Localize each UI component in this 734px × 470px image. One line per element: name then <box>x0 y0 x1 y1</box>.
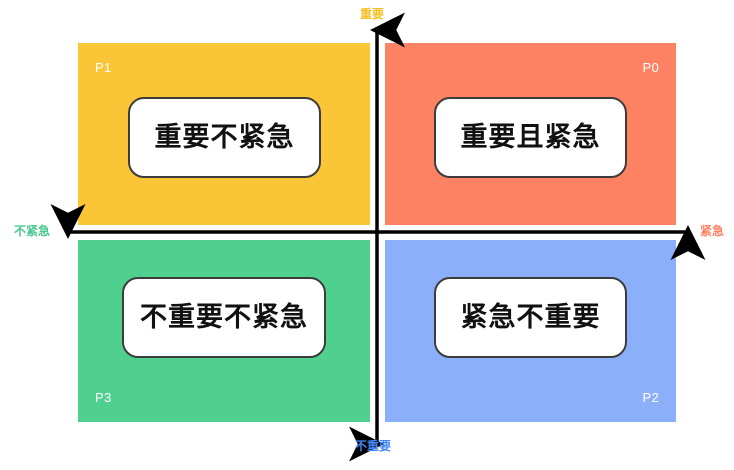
card-p3-label: 不重要不紧急 <box>140 304 308 331</box>
eisenhower-matrix-diagram: P1 P0 P3 P2 <box>0 0 734 470</box>
card-p3[interactable]: 不重要不紧急 <box>122 277 326 358</box>
quadrant-p3-code: P3 <box>95 391 112 404</box>
axis-label-urgent: 紧急 <box>700 225 724 237</box>
quadrant-p0-code: P0 <box>642 61 659 74</box>
card-p0[interactable]: 重要且紧急 <box>434 97 627 178</box>
card-p2[interactable]: 紧急不重要 <box>434 277 627 358</box>
axis-label-not-important: 不重要 <box>355 440 391 452</box>
quadrant-p2-code: P2 <box>642 391 659 404</box>
axis-label-not-urgent: 不紧急 <box>14 225 50 237</box>
axis-label-important: 重要 <box>360 8 384 20</box>
card-p0-label: 重要且紧急 <box>461 124 601 151</box>
card-p1-label: 重要不紧急 <box>155 124 295 151</box>
card-p1[interactable]: 重要不紧急 <box>128 97 321 178</box>
card-p2-label: 紧急不重要 <box>461 304 601 331</box>
quadrant-p1-code: P1 <box>95 61 112 74</box>
